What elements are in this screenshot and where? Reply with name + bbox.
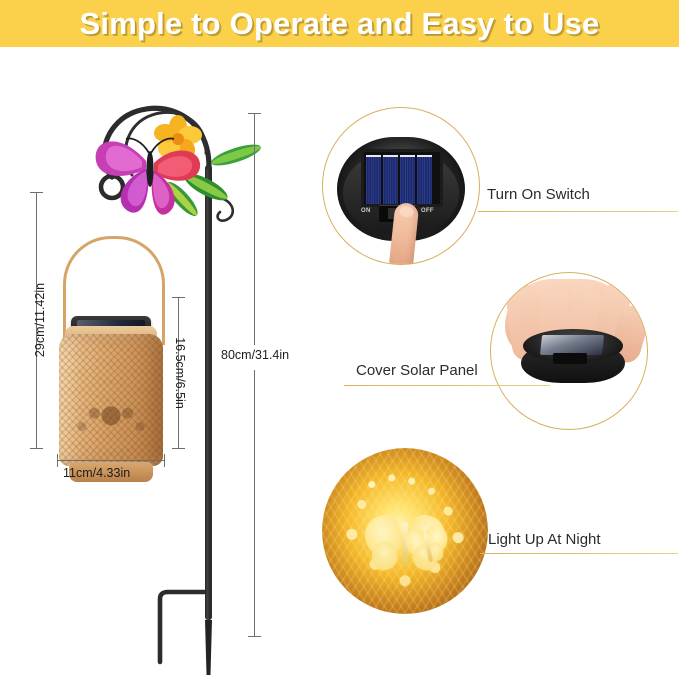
callout-circle-cover-solar-panel: [490, 272, 648, 430]
page-title: Simple to Operate and Easy to Use: [80, 6, 600, 42]
dim-tick-stake-bottom: [248, 636, 261, 637]
dim-tick-stake-top: [248, 113, 261, 114]
callout-label-light-up-at-night: Light Up At Night: [488, 531, 601, 548]
switch-label-on: ON: [361, 208, 371, 214]
header-banner: Simple to Operate and Easy to Use: [0, 0, 679, 47]
dim-label-stake-height: 80cm/31.4in: [221, 348, 289, 362]
dim-line-stake-upper: [254, 113, 255, 345]
solar-panel-disc: [521, 329, 625, 385]
dim-tick-lantern-width-right: [164, 454, 165, 467]
lantern-body-cutout-pattern: [59, 334, 163, 466]
dim-tick-lantern-height-bottom: [30, 448, 43, 449]
solar-top-housing: ON OFF: [337, 137, 465, 241]
callout-circle-turn-on-switch: ON OFF: [322, 107, 480, 265]
callout-label-turn-on-switch: Turn On Switch: [487, 186, 590, 203]
dim-label-body-height: 16.5cm/6.5in: [173, 321, 187, 425]
switch-label-off: OFF: [421, 208, 434, 214]
dim-tick-lantern-width-left: [57, 454, 58, 467]
callout-label-cover-solar-panel: Cover Solar Panel: [356, 362, 478, 379]
infographic-canvas: Simple to Operate and Easy to Use: [0, 0, 679, 675]
callout-circle-light-up-at-night: [322, 448, 488, 614]
callout-line-turn-on-switch: [478, 211, 678, 212]
callout-line-light-up-at-night: [480, 553, 678, 554]
solar-panel-cells: [361, 149, 443, 207]
dim-line-stake-lower: [254, 370, 255, 637]
dim-line-lantern-width: [57, 460, 165, 461]
callout-line-cover-solar-panel: [344, 385, 550, 386]
dim-tick-body-height-top: [172, 297, 185, 298]
dim-label-lantern-width: 11cm/4.33in: [63, 466, 130, 480]
dim-tick-lantern-height-top: [30, 192, 43, 193]
dim-label-lantern-height: 29cm/11.42in: [33, 270, 47, 370]
dim-tick-body-height-bottom: [172, 448, 185, 449]
